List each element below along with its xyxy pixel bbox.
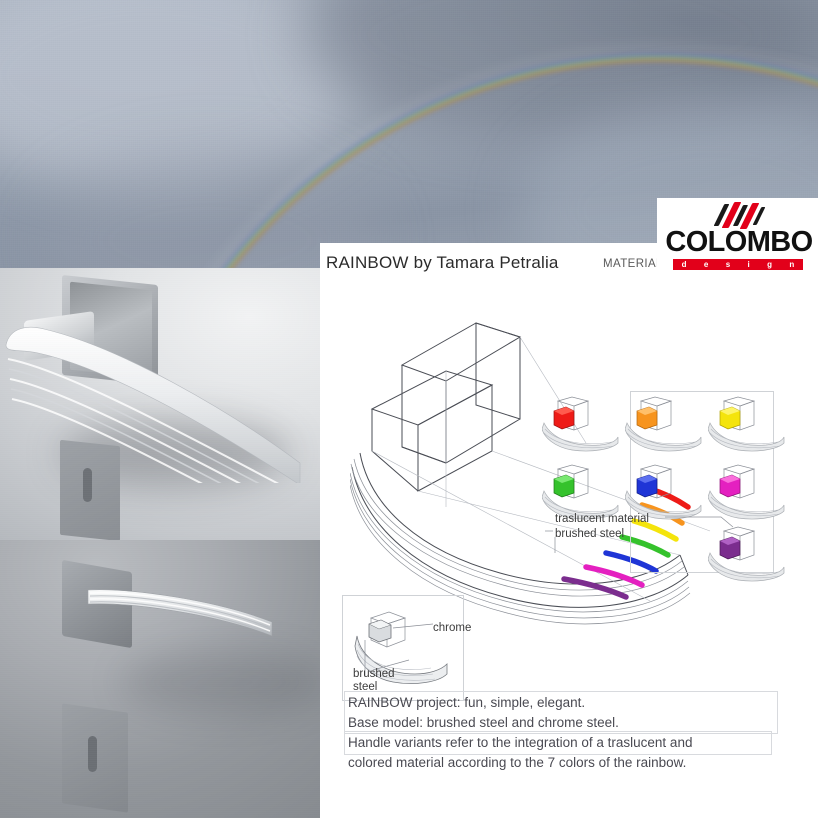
colour-variant-grid — [542, 395, 782, 525]
detail-inset-box: chrome brushed steel — [342, 595, 464, 701]
inset-label-chrome: chrome — [433, 622, 471, 634]
logo-tagline-letter: d — [682, 259, 687, 270]
logo-wordmark: COLOMBO — [664, 226, 814, 259]
annotation-translucent-material: traslucent material — [555, 513, 649, 525]
variant-swatch-orange[interactable] — [625, 395, 700, 450]
caption-line-2: Base model: brushed steel and chrome ste… — [348, 713, 800, 733]
inset-label-brushed-line1: brushed — [353, 668, 395, 681]
colombo-logo: COLOMBO d e s i g n — [657, 198, 818, 278]
product-name: RAINBOW — [326, 253, 409, 272]
variant-swatch-red[interactable] — [542, 395, 617, 450]
variant-swatch-yellow[interactable] — [708, 395, 783, 450]
handle-render-front — [0, 268, 320, 540]
designer-credit: by Tamara Petralia — [414, 253, 559, 272]
logo-tagline-letter: g — [767, 259, 772, 270]
logo-tagline-bar: d e s i g n — [673, 259, 803, 270]
logo-tagline-letter: i — [748, 259, 750, 270]
caption-block: RAINBOW project: fun, simple, elegant. B… — [348, 693, 800, 773]
technical-sketch-area: traslucent material brushed steel — [320, 295, 818, 695]
logo-slash-icon — [719, 202, 767, 228]
page-title: RAINBOW by Tamara Petralia — [326, 253, 559, 273]
spec-panel: RAINBOW by Tamara Petralia MATERIAL — [320, 243, 818, 818]
logo-tagline-letter: s — [726, 259, 730, 270]
page-root: RAINBOW by Tamara Petralia MATERIAL — [0, 0, 818, 818]
caption-line-4: colored material according to the 7 colo… — [348, 753, 800, 773]
caption-line-3: Handle variants refer to the integration… — [348, 733, 800, 753]
section-label: MATERIAL — [603, 258, 663, 270]
caption-line-1: RAINBOW project: fun, simple, elegant. — [348, 693, 800, 713]
logo-tagline-letter: e — [704, 259, 708, 270]
logo-tagline-letter: n — [789, 259, 794, 270]
annotation-brushed-steel: brushed steel — [555, 528, 624, 540]
handle-render-side — [0, 540, 320, 818]
